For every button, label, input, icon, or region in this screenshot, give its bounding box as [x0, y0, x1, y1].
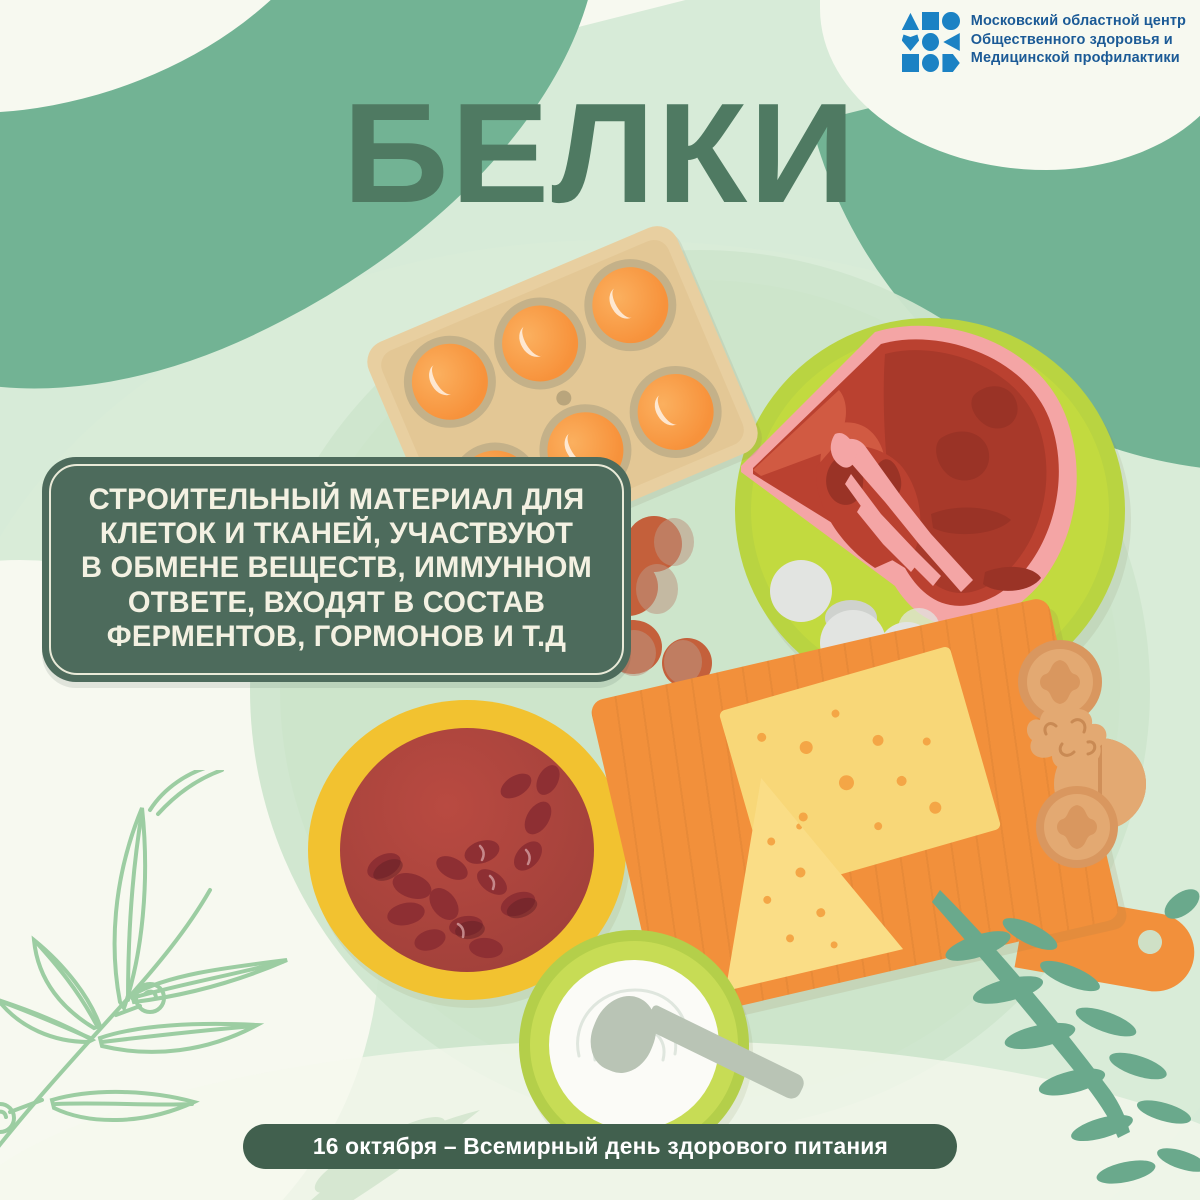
logo-triangle-left-icon	[942, 33, 959, 51]
logo-circle-icon	[942, 12, 959, 30]
leaf-decor-bottom-left	[280, 1000, 520, 1200]
hazelnut-highlight	[636, 564, 678, 614]
logo-triangle-icon	[902, 12, 919, 30]
event-banner-text: 16 октября – Всемирный день здорового пи…	[312, 1133, 887, 1160]
poster-canvas: Московский областной центр Общественного…	[0, 0, 1200, 1200]
logo-drop-icon	[942, 54, 959, 72]
logo-heart-icon	[902, 33, 919, 51]
walnut-kernel-icon	[1016, 690, 1126, 780]
message-line: СТРОИТЕЛЬНЫЙ МАТЕРИАЛ ДЛЯ	[72, 483, 601, 517]
message-line: ОТВЕТЕ, ВХОДЯТ В СОСТАВ	[72, 586, 601, 620]
message-box: СТРОИТЕЛЬНЫЙ МАТЕРИАЛ ДЛЯ КЛЕТОК И ТКАНЕ…	[42, 457, 631, 682]
message-line: В ОБМЕНЕ ВЕЩЕСТВ, ИММУННОМ	[72, 551, 601, 585]
mushroom-icon	[770, 560, 832, 622]
message-line: ФЕРМЕНТОВ, ГОРМОНОВ И Т.Д	[72, 620, 601, 654]
walnut-half-icon	[1036, 786, 1118, 868]
event-banner: 16 октября – Всемирный день здорового пи…	[243, 1124, 957, 1169]
logo-square-icon	[902, 54, 919, 72]
beans-icon	[340, 728, 594, 972]
logo-circle-icon	[922, 54, 939, 72]
rosemary-sprig-icon	[920, 880, 1200, 1200]
page-title: БЕЛКИ	[0, 86, 1200, 222]
organization-logo: Московский областной центр Общественного…	[902, 8, 1186, 72]
logo-square-icon	[922, 12, 939, 30]
logo-text: Московский областной центр Общественного…	[971, 8, 1186, 68]
logo-circle-icon	[922, 33, 939, 51]
message-line: КЛЕТОК И ТКАНЕЙ, УЧАСТВУЮТ	[72, 517, 601, 551]
hazelnut-highlight	[654, 518, 694, 566]
logo-shape-grid	[902, 12, 960, 72]
